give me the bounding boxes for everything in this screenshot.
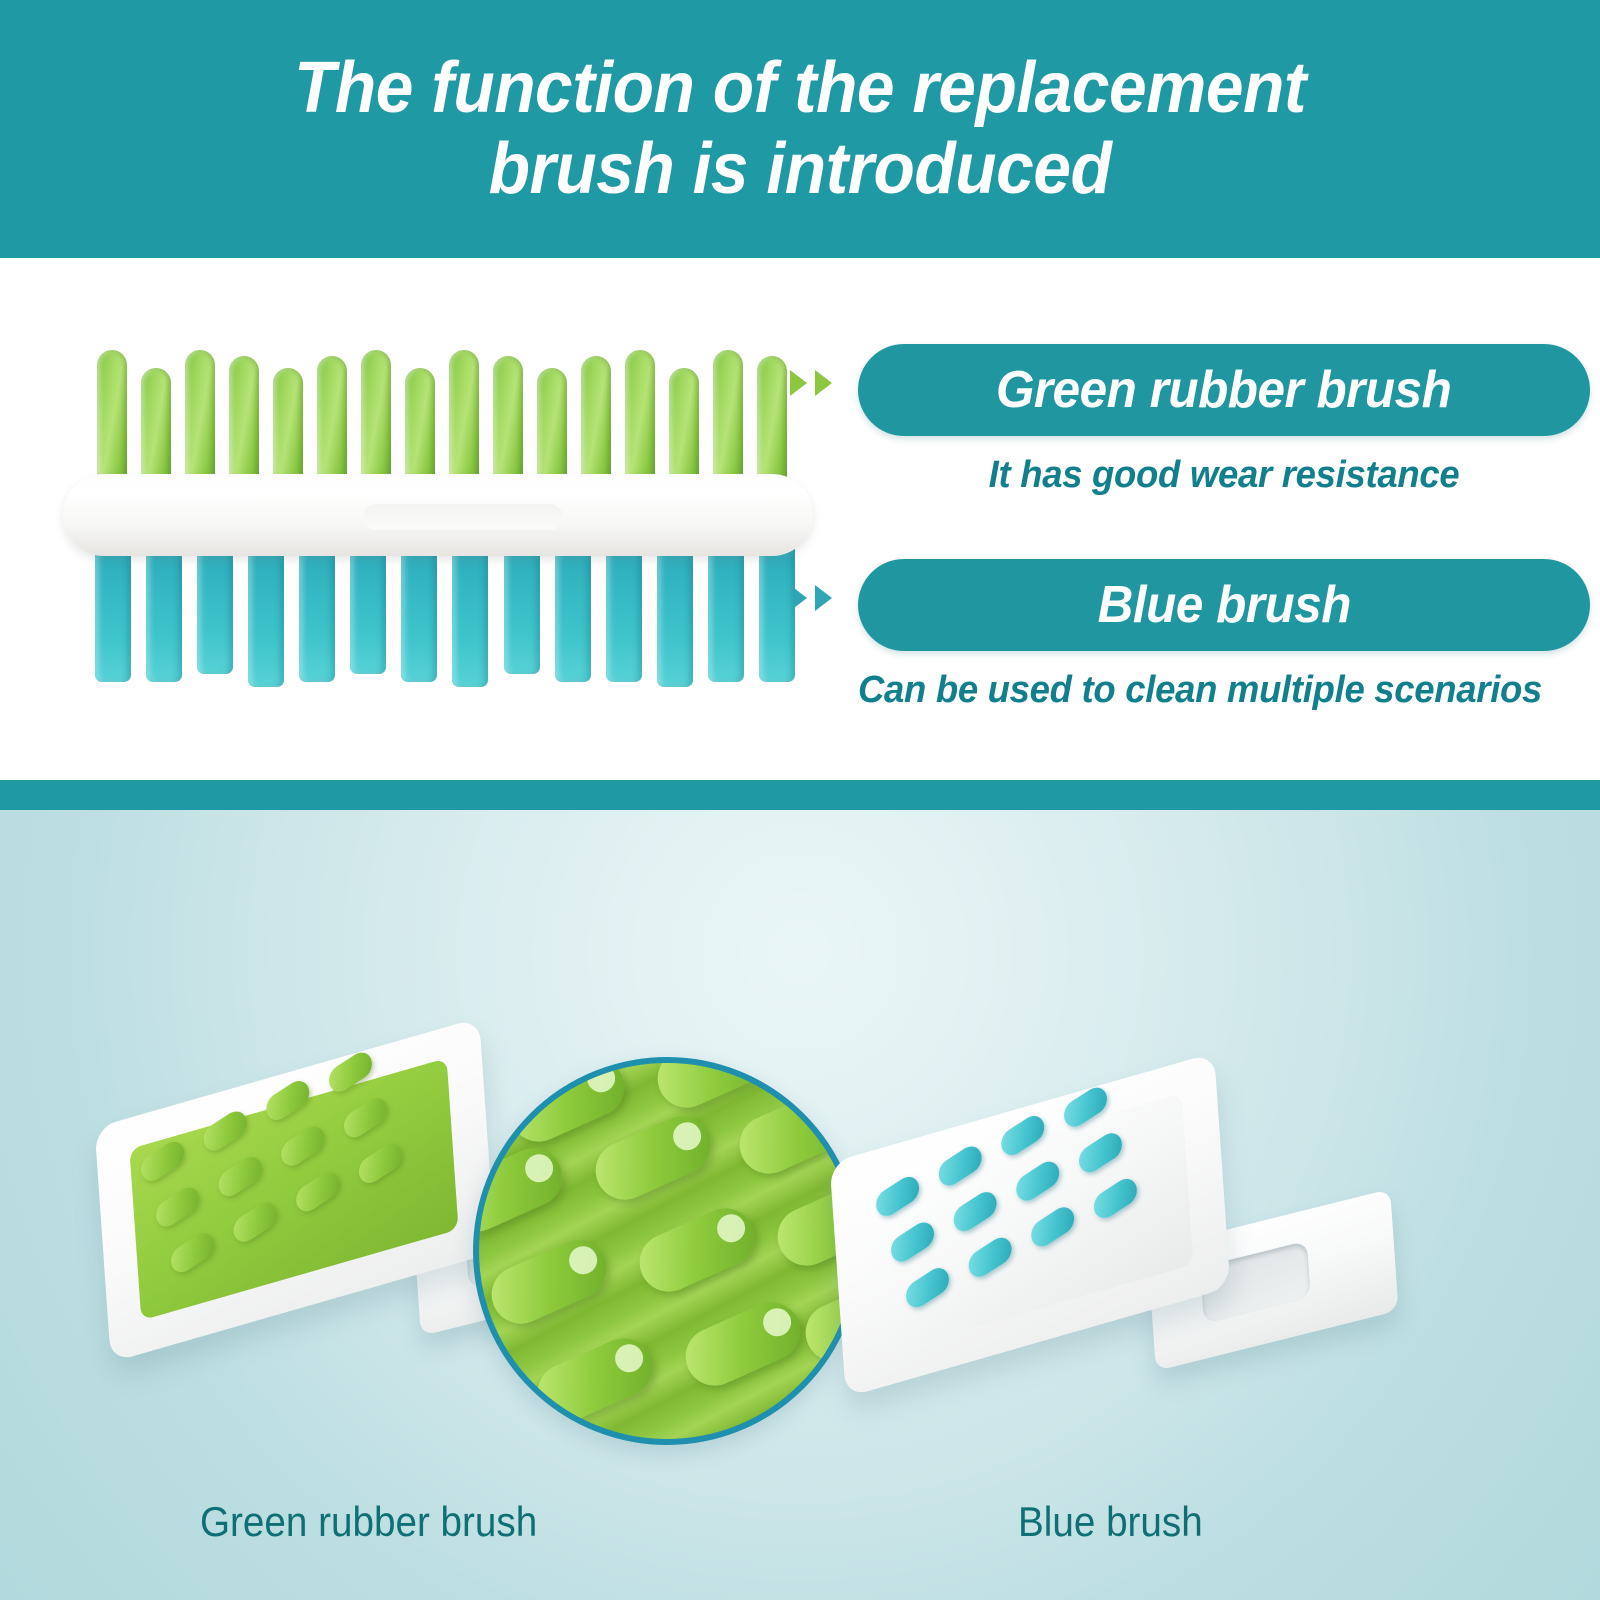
feature-overview-panel: Green rubber brush It has good wear resi… <box>0 258 1600 780</box>
double-chevron-right-icon <box>790 370 832 396</box>
blue-bristle <box>95 542 131 682</box>
brush-head-photo <box>55 346 815 686</box>
blue-tuft <box>997 1111 1048 1161</box>
green-nub <box>757 356 787 486</box>
blue-tuft <box>887 1217 938 1267</box>
chevron-right-icon <box>790 370 807 396</box>
blue-tuft <box>1012 1156 1063 1206</box>
caption-green-rubber-brush: Green rubber brush <box>200 1498 537 1546</box>
green-nub <box>361 350 391 486</box>
green-nub <box>141 368 171 486</box>
magnified-green-nub <box>500 1057 633 1151</box>
blue-tuft <box>1090 1174 1141 1224</box>
blue-brush-product-image <box>830 1070 1370 1410</box>
blue-tuft <box>1075 1128 1126 1178</box>
callout-blue-brush: Blue brush Can be used to clean multiple… <box>790 559 1590 712</box>
green-detail-magnifier <box>473 1057 861 1445</box>
blue-bristle <box>606 542 642 682</box>
green-nub <box>625 350 655 486</box>
callout-pill-label: Blue brush <box>1097 575 1350 635</box>
green-nub <box>292 1167 343 1217</box>
callout-description-green: It has good wear resistance <box>873 454 1576 497</box>
green-nub <box>537 368 567 486</box>
blue-bristle <box>452 542 488 687</box>
body-notch <box>363 504 563 530</box>
green-nub <box>230 1197 281 1247</box>
callout-green-rubber-brush: Green rubber brush It has good wear resi… <box>790 344 1590 497</box>
magnified-green-nub <box>630 1199 763 1301</box>
blue-bristle <box>350 542 386 674</box>
caption-blue-brush: Blue brush <box>1018 1498 1203 1546</box>
page-title: The function of the replacement brush is… <box>198 48 1401 209</box>
blue-tuft <box>950 1187 1001 1237</box>
blue-tuft <box>1027 1202 1078 1252</box>
callout-pill-label: Green rubber brush <box>996 360 1451 420</box>
brush-white-body <box>63 474 813 556</box>
page-title-line-2: brush is introduced <box>198 129 1401 210</box>
green-nub <box>449 350 479 486</box>
blue-bristle <box>555 542 591 682</box>
magnified-green-nub <box>528 1329 661 1431</box>
chevron-right-icon <box>815 370 832 396</box>
green-rubber-nubs-group <box>97 346 787 486</box>
blue-bristle <box>657 542 693 687</box>
green-nub <box>137 1137 188 1187</box>
blue-bristle <box>401 542 437 682</box>
callout-pill-blue: Blue brush <box>858 559 1590 651</box>
magnified-green-nub <box>586 1107 719 1209</box>
blue-tuft <box>965 1232 1016 1282</box>
blue-bristle <box>299 542 335 682</box>
green-nub <box>277 1121 328 1171</box>
green-nub <box>262 1076 313 1126</box>
blue-tuft <box>902 1263 953 1313</box>
green-nub <box>493 356 523 486</box>
page-header: The function of the replacement brush is… <box>0 0 1600 258</box>
green-nub <box>215 1152 266 1202</box>
green-nub <box>713 350 743 486</box>
callout-description-blue: Can be used to clean multiple scenarios <box>826 669 1575 712</box>
page-title-line-1: The function of the replacement <box>198 48 1401 129</box>
green-nub <box>167 1228 218 1278</box>
magnified-green-nub <box>482 1231 615 1333</box>
green-nub <box>152 1182 203 1232</box>
blue-bristles-group <box>95 542 795 686</box>
green-nub <box>669 368 699 486</box>
green-nub <box>229 356 259 486</box>
blue-tuft <box>1060 1082 1111 1132</box>
green-nub <box>340 1093 391 1143</box>
magnified-green-nub <box>676 1293 809 1395</box>
magnified-green-nub <box>648 1057 781 1117</box>
green-nub <box>355 1139 406 1189</box>
green-nub <box>317 356 347 486</box>
blue-bristle <box>248 542 284 687</box>
double-chevron-right-icon <box>790 585 832 611</box>
callout-pill-green: Green rubber brush <box>858 344 1590 436</box>
blue-tuft <box>872 1172 923 1222</box>
blue-bristle <box>708 542 744 682</box>
green-nub <box>405 368 435 486</box>
blue-bristle <box>504 542 540 674</box>
green-nub <box>325 1047 376 1097</box>
detail-comparison-panel <box>0 810 1600 1600</box>
chevron-right-icon <box>815 585 832 611</box>
green-nub <box>581 356 611 486</box>
green-nub <box>185 350 215 486</box>
callout-list: Green rubber brush It has good wear resi… <box>790 344 1590 694</box>
blue-tuft <box>935 1141 986 1191</box>
green-nub <box>200 1106 251 1156</box>
blue-bristle <box>197 542 233 674</box>
section-divider <box>0 780 1600 810</box>
green-nub <box>273 368 303 486</box>
blue-bristle <box>759 542 795 682</box>
green-nub <box>97 350 127 486</box>
blue-bristle <box>146 542 182 682</box>
green-brush-product-image <box>95 1035 635 1395</box>
